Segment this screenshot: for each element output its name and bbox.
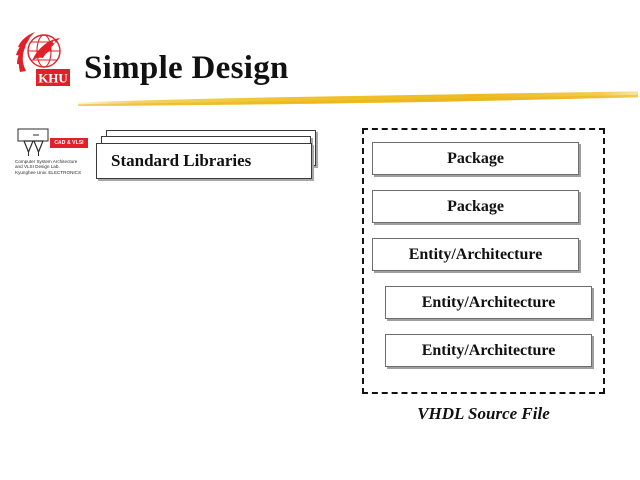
slide-header: KHU Simple Design bbox=[0, 0, 640, 120]
cad-vlsi-lab-logo-icon: CAD & VLSI Lab Computer System Architect… bbox=[14, 128, 88, 180]
svg-text:KHU: KHU bbox=[38, 71, 68, 86]
yellow-brush-stroke bbox=[78, 90, 638, 108]
standard-libraries-label: Standard Libraries bbox=[97, 151, 251, 171]
lab-caption-line-3: Kyunghee Univ. ELECTRONICS bbox=[15, 170, 87, 175]
design-unit-label: Entity/Architecture bbox=[409, 246, 543, 264]
lab-badge: CAD & VLSI Lab bbox=[50, 138, 88, 148]
design-unit-box: Package bbox=[372, 190, 579, 223]
vhdl-source-file-container: Package Package Entity/Architecture Enti… bbox=[362, 128, 605, 394]
design-unit-box: Entity/Architecture bbox=[385, 286, 592, 319]
design-unit-box: Entity/Architecture bbox=[385, 334, 592, 367]
standard-libraries-box-front: Standard Libraries bbox=[96, 143, 312, 179]
design-unit-label: Package bbox=[447, 150, 504, 168]
khu-university-crest-icon: KHU bbox=[14, 27, 76, 89]
design-unit-label: Entity/Architecture bbox=[422, 294, 556, 312]
page-title: Simple Design bbox=[84, 48, 289, 88]
design-unit-box: Package bbox=[372, 142, 579, 175]
standard-libraries-stack: Standard Libraries bbox=[96, 130, 328, 186]
design-unit-box: Entity/Architecture bbox=[372, 238, 579, 271]
design-unit-label: Package bbox=[447, 198, 504, 216]
vhdl-source-file-caption: VHDL Source File bbox=[362, 404, 605, 424]
design-unit-label: Entity/Architecture bbox=[422, 342, 556, 360]
